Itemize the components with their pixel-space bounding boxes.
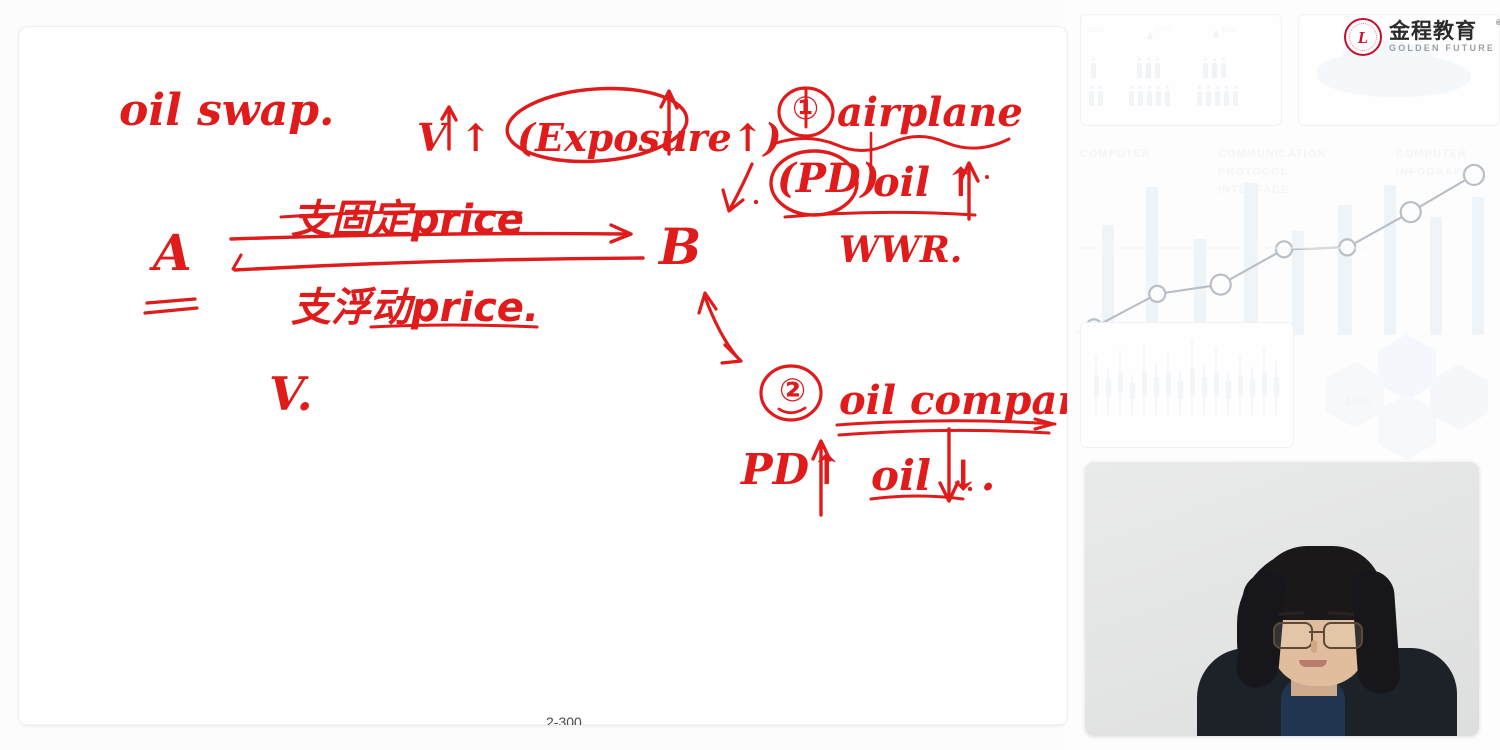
slide-divider — [19, 724, 1067, 725]
brand-name-cn: 金程教育® — [1389, 21, 1495, 42]
brand-logo: L 金程教育® GOLDEN FUTURE — [1344, 18, 1495, 56]
ink-value-mark: V. — [269, 367, 313, 421]
ink-leg-pay-fixed: 支固定price — [291, 187, 524, 245]
bg-hexagon-cluster: 40% — [1318, 318, 1498, 478]
ink-case2-driver: oil ↓. — [871, 451, 995, 500]
bg-hex-label: 40% — [1344, 394, 1372, 409]
ink-case2-party: oil company. — [839, 377, 1068, 424]
ink-value-exposure: V ↑ — [417, 115, 492, 160]
ink-case1-party: airplane — [837, 89, 1023, 136]
trademark-symbol: ® — [1496, 20, 1500, 27]
bg-people-label-0: 25% — [1089, 27, 1105, 34]
ink-title: oil swap. — [119, 85, 334, 136]
bg-pictogram-card: 25% 37% 48% — [1080, 14, 1282, 126]
slide-canvas[interactable]: oil swap. V ↑ (Exposure↑) A B 支固定price 支… — [18, 26, 1068, 726]
bg-candlestick-card — [1080, 322, 1294, 448]
glasses-bridge — [1309, 631, 1323, 633]
slide-page-number: 2-300 — [546, 714, 582, 726]
bg-people-label-1: 37% — [1155, 27, 1171, 34]
ink-case1-risk-tag: (PD) — [777, 155, 880, 202]
seal-glyph: L — [1358, 29, 1368, 46]
brand-name-cn-text: 金程教育 — [1389, 20, 1477, 43]
ink-case1-driver: oil ↑ — [873, 159, 978, 206]
ink-case2-number: ② — [779, 371, 806, 409]
glasses-icon-right — [1323, 622, 1363, 649]
ink-exposure-label: (Exposure↑) — [517, 115, 782, 160]
webcam-person-nose — [1311, 640, 1317, 653]
webcam-person-mouth — [1299, 660, 1327, 667]
glasses-icon-left — [1273, 622, 1313, 649]
ink-party-a: A — [153, 223, 192, 282]
seal-icon: L — [1344, 18, 1382, 56]
bg-people-label-2: 48% — [1221, 27, 1237, 34]
webcam-video-tile[interactable] — [1085, 462, 1479, 736]
ink-party-b: B — [659, 217, 701, 276]
app-root: 25% 37% 48% COMPUTER COMMUNICATION PROTO… — [0, 0, 1500, 750]
brand-name-en: GOLDEN FUTURE — [1389, 44, 1495, 53]
ink-leg-pay-floating: 支浮动price. — [291, 275, 539, 333]
ink-case1-note: WWR. — [839, 229, 962, 271]
ink-case2-pd: PD↑ — [741, 445, 844, 494]
ink-case1-number: ① — [792, 89, 819, 127]
